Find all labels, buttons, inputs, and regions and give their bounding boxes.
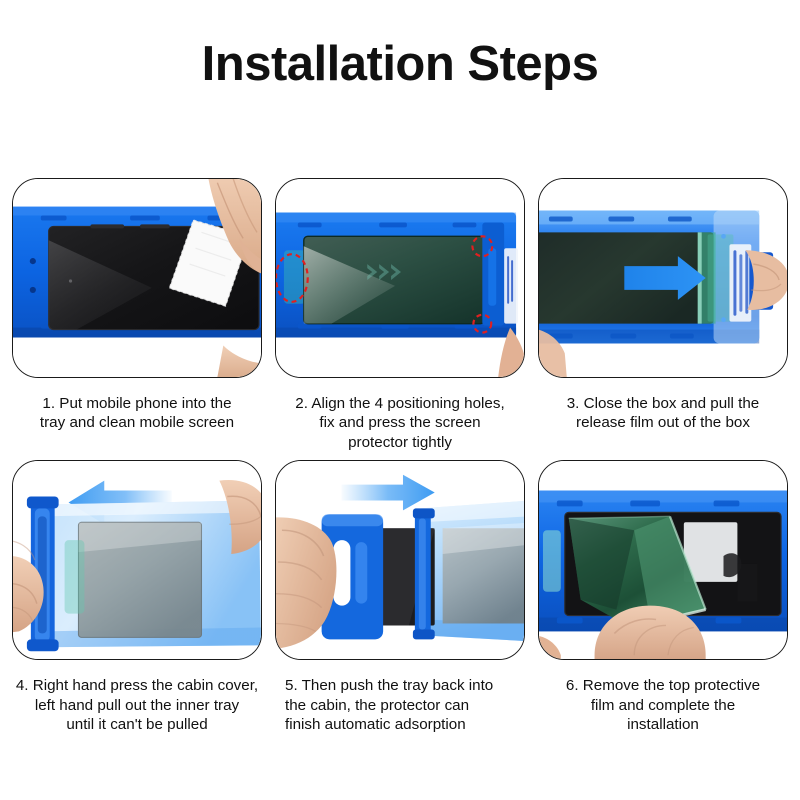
step-2-photo (275, 178, 525, 378)
installation-steps-page: Installation Steps (0, 0, 800, 800)
step-4-photo (12, 460, 262, 660)
align-positioning-holes-illustration (276, 179, 524, 377)
step-3-caption: 3. Close the box and pull the release fi… (538, 394, 788, 433)
steps-grid: 1. Put mobile phone into the tray and cl… (12, 178, 788, 735)
step-3-photo (538, 178, 788, 378)
step-1: 1. Put mobile phone into the tray and cl… (12, 178, 262, 452)
step-3: 3. Close the box and pull the release fi… (538, 178, 788, 452)
step-5-photo (275, 460, 525, 660)
close-box-pull-release-film-illustration (539, 179, 787, 377)
step-6: 6. Remove the top protective film and co… (538, 460, 788, 734)
step-5-caption: 5. Then push the tray back into the cabi… (275, 676, 525, 734)
step-4-caption: 4. Right hand press the cabin cover, lef… (12, 676, 262, 734)
step-1-photo (12, 178, 262, 378)
phone-in-tray-with-cloth-illustration (13, 179, 261, 377)
step-2-caption: 2. Align the 4 positioning holes, fix an… (275, 394, 525, 452)
step-1-caption: 1. Put mobile phone into the tray and cl… (12, 394, 262, 433)
pull-out-inner-tray-illustration (13, 461, 261, 659)
step-5: 5. Then push the tray back into the cabi… (275, 460, 525, 734)
step-2: 2. Align the 4 positioning holes, fix an… (275, 178, 525, 452)
step-6-photo (538, 460, 788, 660)
remove-top-protective-film-illustration (539, 461, 787, 659)
push-tray-back-in-illustration (276, 461, 524, 659)
page-title: Installation Steps (0, 38, 800, 92)
step-4: 4. Right hand press the cabin cover, lef… (12, 460, 262, 734)
step-6-caption: 6. Remove the top protective film and co… (538, 676, 788, 734)
